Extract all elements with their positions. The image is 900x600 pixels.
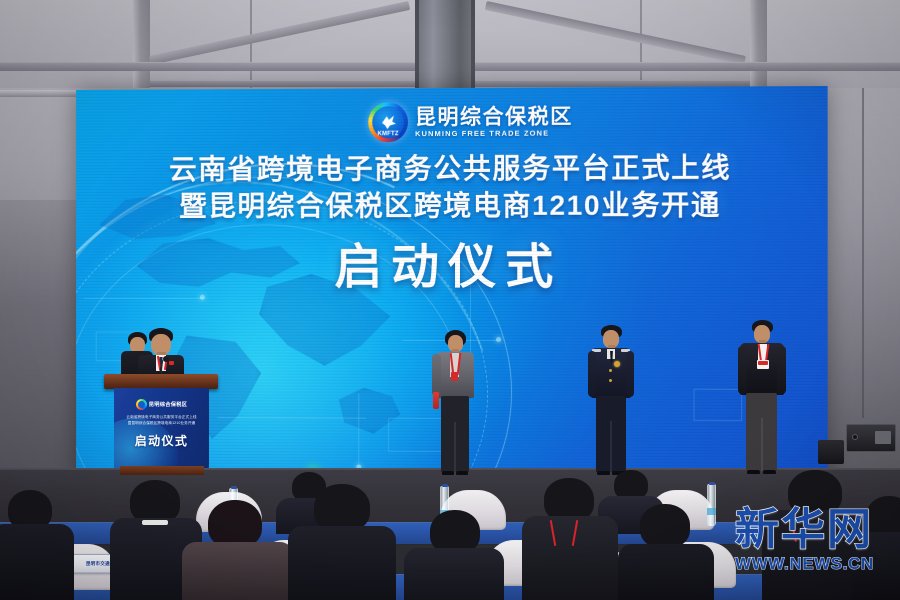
screen-headline-block: 云南省跨境电子商务公共服务平台正式上线 暨昆明综合保税区跨境电商1210业务开通… — [76, 149, 828, 292]
audience-person — [0, 490, 70, 600]
tech-line-3 — [358, 394, 359, 468]
ceiling-brace-right — [485, 1, 746, 65]
podium-logo-row: 昆明综合保税区 — [114, 399, 209, 410]
headline-line-1: 云南省跨境电子商务公共服务平台正式上线 — [76, 149, 828, 188]
ceiling-column-right — [750, 0, 767, 96]
headline-line-2: 暨昆明综合保税区跨境电商1210业务开通 — [76, 186, 828, 225]
tech-node-1 — [200, 295, 205, 300]
person-official-woman — [432, 330, 478, 480]
brand-name-en: KUNMING FREE TRADE ZONE — [415, 129, 573, 137]
audience-person — [618, 504, 714, 600]
audience-person — [404, 510, 504, 600]
ceiling-duct — [415, 0, 475, 96]
person-official-uniform — [588, 325, 634, 480]
ceremony-photo: KMFTZ 昆明综合保税区 KUNMING FREE TRADE ZONE 云南… — [0, 0, 900, 600]
ceiling-column-left — [133, 0, 150, 96]
podium-ceremony-label: 启动仪式 — [114, 432, 209, 449]
hall-ceiling — [0, 0, 900, 96]
speaker-badge — [169, 361, 174, 365]
ceiling-brace-left — [149, 1, 410, 65]
stage-monitor-speaker — [818, 440, 844, 464]
podium-subtitle-line-2: 暨昆明综合保税区跨境电商1210业务开通 — [114, 421, 209, 427]
amplifier-rack — [846, 424, 896, 452]
watermark-brand-cn: 新华网 — [735, 508, 874, 552]
kmftz-emblem-icon: KMFTZ — [368, 102, 408, 142]
tech-node-2 — [496, 337, 501, 342]
podium-brand-name: 昆明综合保税区 — [149, 401, 187, 408]
microphone-icon — [163, 356, 169, 362]
podium-emblem-icon — [136, 399, 147, 410]
uniform-button-2 — [609, 379, 612, 382]
emblem-abbr: KMFTZ — [368, 131, 408, 137]
official-woman-arm-holding-scroll — [432, 354, 441, 396]
tech-line-1 — [84, 298, 202, 299]
red-scroll-item — [433, 392, 439, 409]
brand-name-cn: 昆明综合保税区 — [415, 106, 573, 128]
xinhua-watermark: 新华网 WWW.NEWS.CN — [735, 508, 874, 574]
amplifier-knob-icon — [852, 434, 858, 440]
audience-person — [290, 484, 394, 600]
audience-person — [524, 478, 616, 600]
speaker-podium: 昆明综合保税区 云南省跨境电子商务公共服务平台正式上线 暨昆明综合保税区跨境电商… — [108, 374, 214, 474]
audience-person — [182, 500, 292, 600]
podium-desktop — [104, 374, 218, 389]
tech-box-3 — [693, 389, 742, 421]
uniform-button-1 — [609, 369, 612, 372]
uniform-insignia-icon — [614, 361, 620, 367]
podium-subtitle: 云南省跨境电子商务公共服务平台正式上线 暨昆明综合保税区跨境电商1210业务开通 — [114, 415, 209, 426]
amplifier-panel — [875, 431, 891, 444]
wall-seam-right — [862, 88, 864, 418]
ceremony-heading: 启动仪式 — [76, 244, 828, 293]
watermark-brand-url: WWW.NEWS.CN — [735, 554, 874, 574]
podium-subtitle-line-1: 云南省跨境电子商务公共服务平台正式上线 — [114, 415, 209, 421]
podium-front-panel: 昆明综合保税区 云南省跨境电子商务公共服务平台正式上线 暨昆明综合保税区跨境电商… — [114, 388, 209, 468]
screen-brand-logo: KMFTZ 昆明综合保税区 KUNMING FREE TRADE ZONE — [368, 101, 573, 142]
person-official-suit — [738, 320, 786, 478]
emblem-bird-icon — [380, 115, 397, 130]
